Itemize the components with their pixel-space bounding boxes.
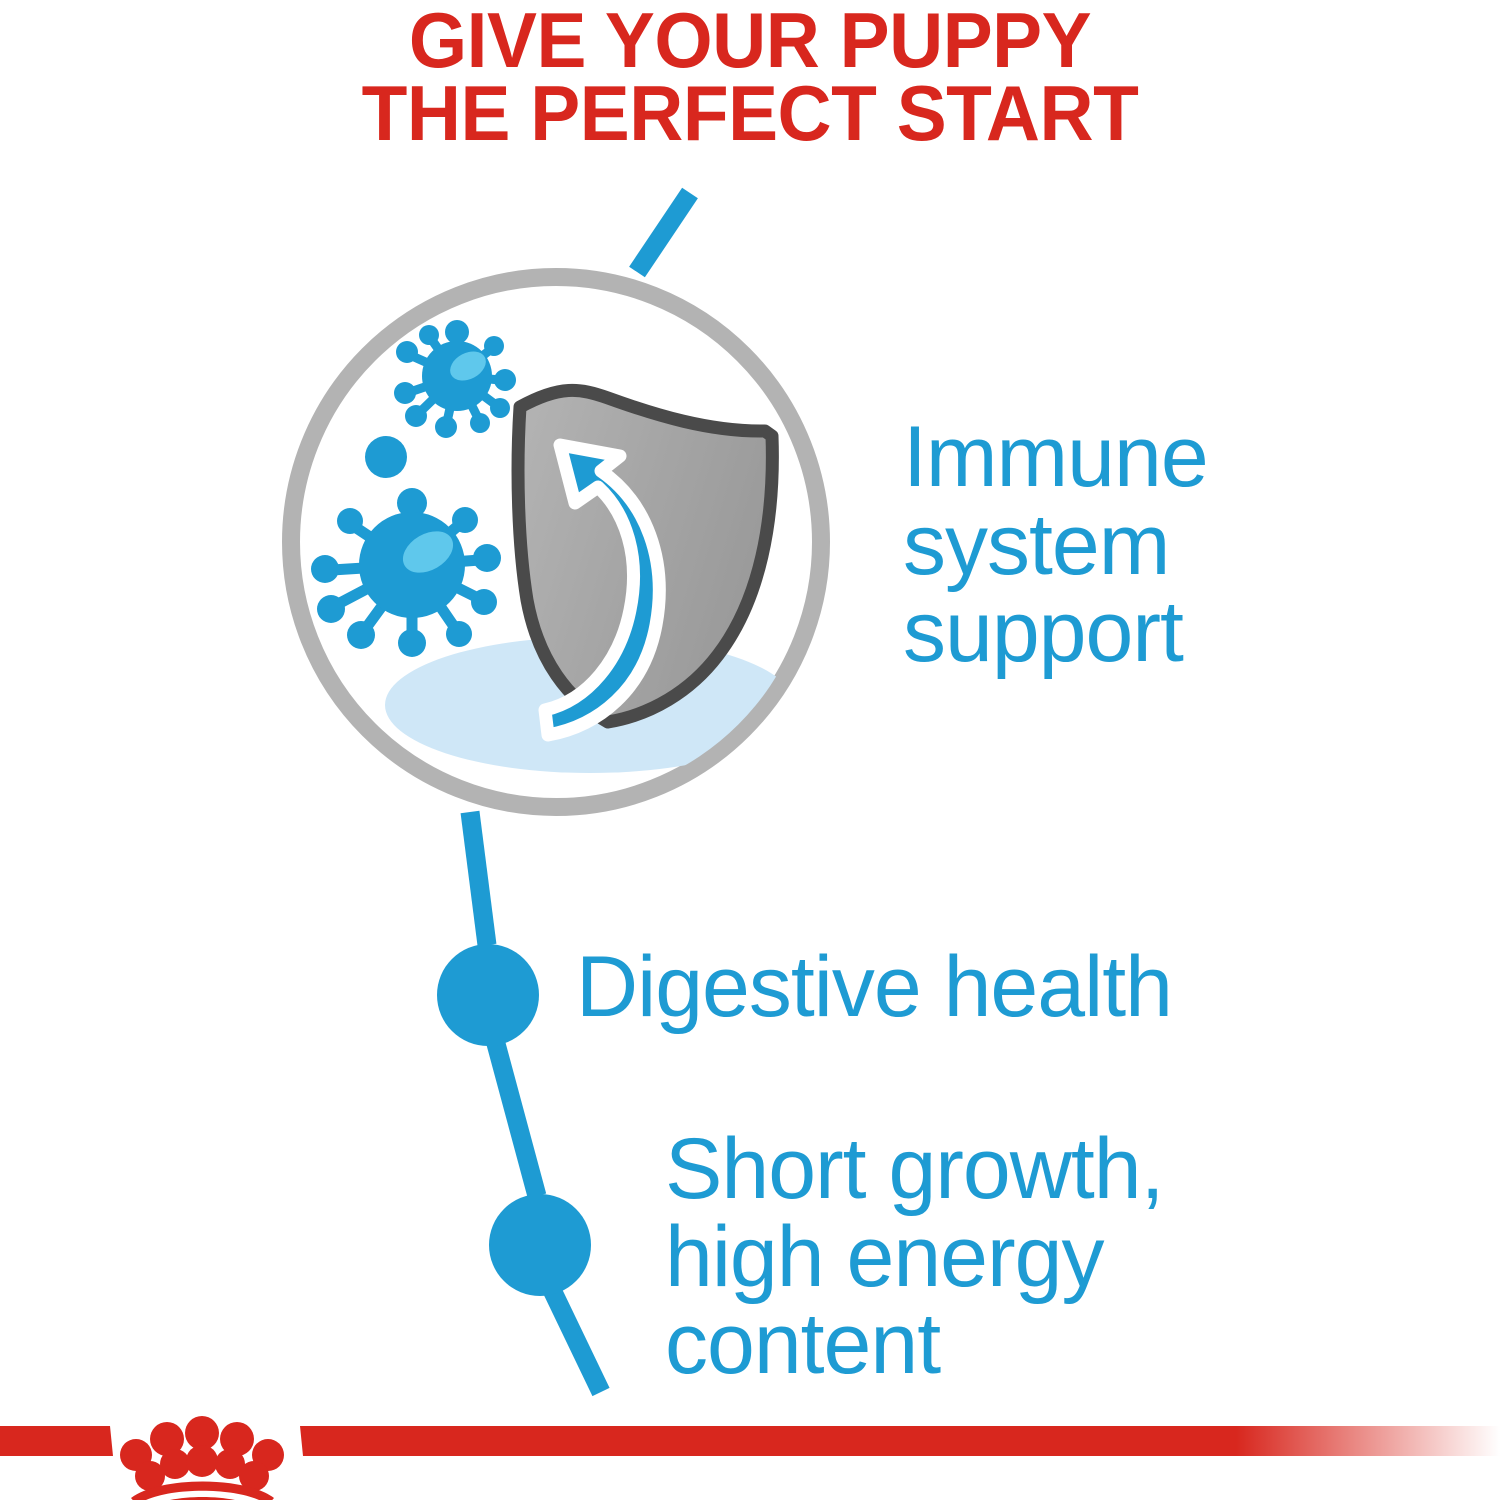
footer-bar-left	[0, 1426, 113, 1456]
footer-bar-right	[300, 1426, 1500, 1456]
royal-canin-crown-logo	[120, 1416, 284, 1500]
connector-node-1	[437, 944, 539, 1046]
connector-node-2	[489, 1194, 591, 1296]
connector-top-line	[637, 193, 690, 272]
feature-label-digestive: Digestive health	[576, 944, 1376, 1032]
germ-dot-icon	[365, 436, 407, 478]
footer-brand-bar	[0, 1400, 1500, 1500]
feature-label-growth: Short growth, high energy content	[665, 1126, 1365, 1389]
promo-infographic: GIVE YOUR PUPPY THE PERFECT START	[0, 0, 1500, 1500]
feature-label-immune: Immune system support	[903, 414, 1383, 677]
connector-chain	[437, 812, 601, 1392]
